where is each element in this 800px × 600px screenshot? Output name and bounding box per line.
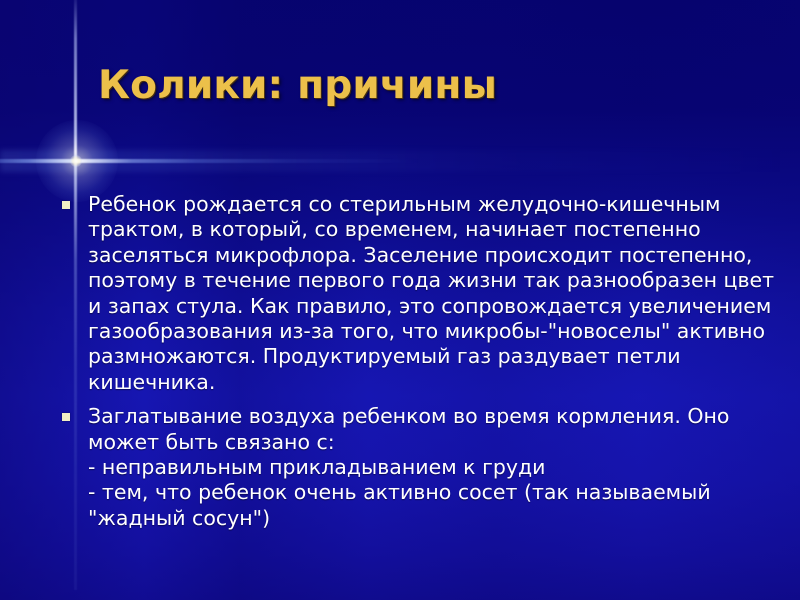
bullet-item: Заглатывание воздуха ребенком во время к… (0, 404, 800, 531)
bullet-subline: - тем, что ребенок очень активно сосет (… (88, 480, 786, 531)
bullet-subline: - неправильным прикладыванием к груди (88, 455, 786, 480)
bullet-item: Ребенок рождается со стерильным желудочн… (0, 192, 800, 395)
star-horizontal-beam-icon (0, 159, 420, 163)
star-core-icon (70, 155, 82, 167)
slide-title: Колики: причины (98, 63, 497, 108)
bullet-text: Ребенок рождается со стерильным желудочн… (88, 192, 786, 395)
horizontal-sheen-band (0, 150, 800, 172)
slide-body: Ребенок рождается со стерильным желудочн… (0, 192, 800, 540)
star-glow (36, 120, 118, 202)
presentation-slide: Колики: причины Ребенок рождается со сте… (0, 0, 800, 600)
square-bullet-icon (62, 413, 70, 421)
square-bullet-icon (62, 201, 70, 209)
bullet-text: Заглатывание воздуха ребенком во время к… (88, 404, 786, 455)
